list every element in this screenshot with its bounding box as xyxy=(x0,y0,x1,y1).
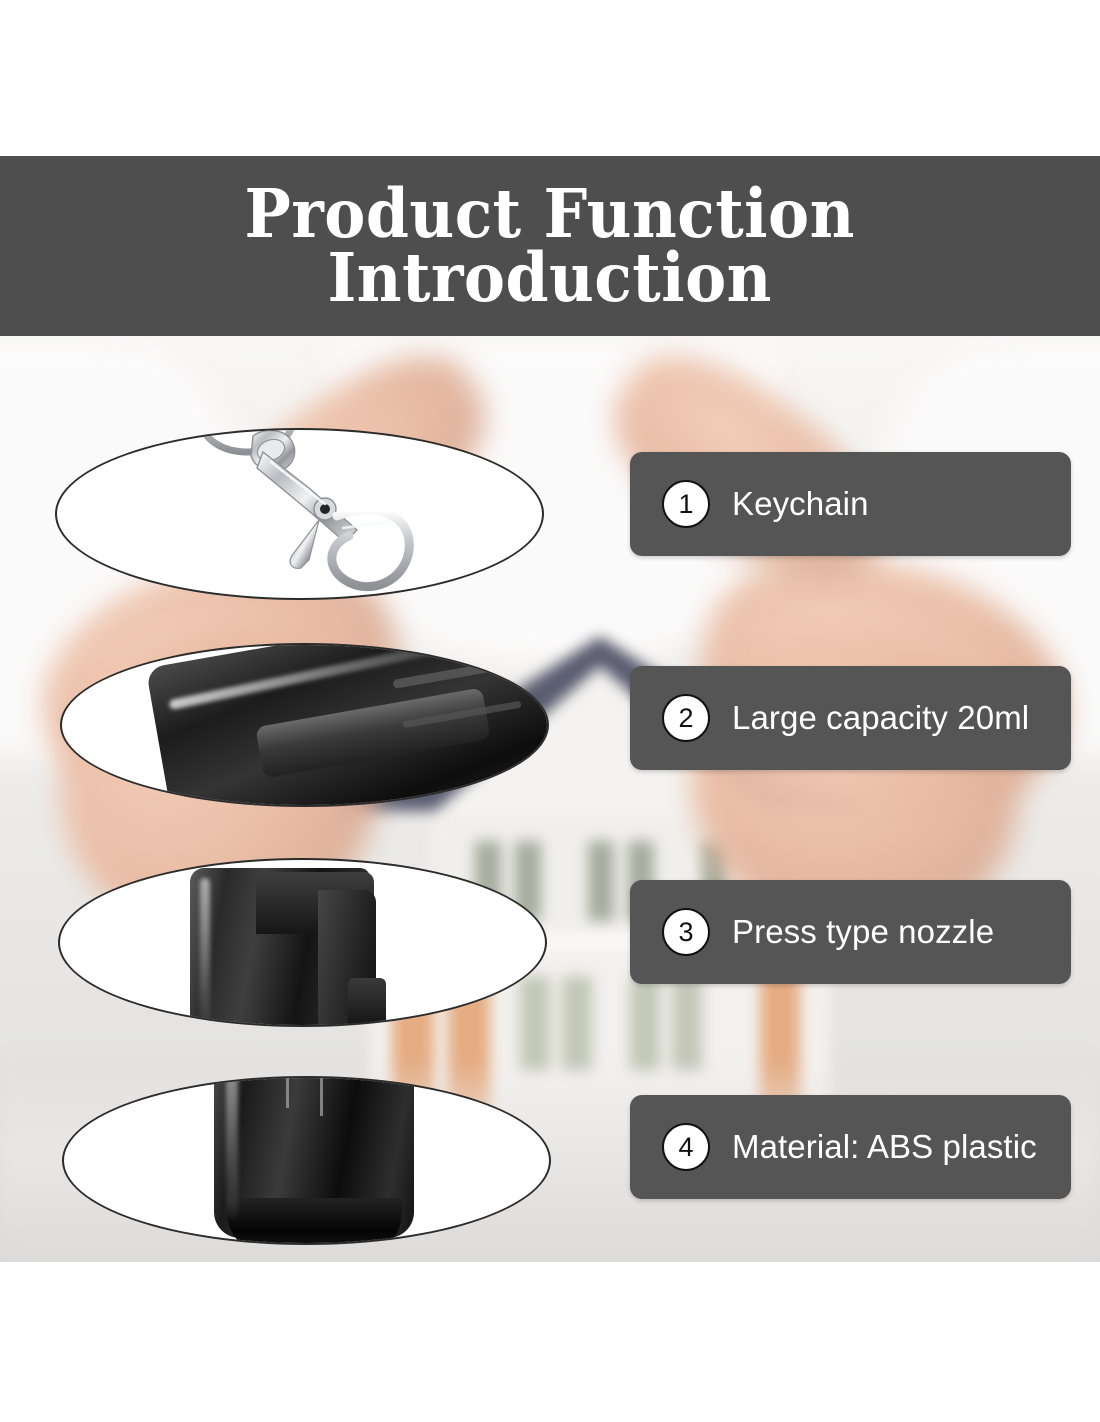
feature-number-badge-4: 4 xyxy=(662,1123,710,1171)
bottle-base-highlight xyxy=(226,1076,238,1218)
feature-bar-2[interactable]: 2 Large capacity 20ml xyxy=(630,666,1071,770)
house-window xyxy=(562,976,592,1071)
bottle-base-seam xyxy=(286,1076,289,1108)
keychain-clasp-icon xyxy=(57,430,542,598)
bottom-white-margin xyxy=(0,1262,1100,1422)
feature-number-badge-1: 1 xyxy=(662,480,710,528)
callout-ellipse-1 xyxy=(55,428,544,600)
house-window xyxy=(588,841,614,921)
callout-ellipse-3 xyxy=(58,858,547,1027)
page-title-line-2: Introduction xyxy=(328,238,773,317)
nozzle-cap-photo xyxy=(60,860,545,1025)
feature-label-4: Material: ABS plastic xyxy=(732,1128,1037,1166)
nozzle-highlight xyxy=(200,878,210,1027)
feature-bar-3[interactable]: 3 Press type nozzle xyxy=(630,880,1071,984)
callout-ellipse-4 xyxy=(62,1076,551,1245)
feature-number-badge-2: 2 xyxy=(662,694,710,742)
bottle-base-seam xyxy=(320,1076,323,1116)
bottle-base-photo xyxy=(64,1078,549,1243)
house-window xyxy=(672,976,702,1071)
feature-label-3: Press type nozzle xyxy=(732,913,994,951)
bottle-body-photo xyxy=(62,645,547,805)
feature-bar-4[interactable]: 4 Material: ABS plastic xyxy=(630,1095,1071,1199)
bottle-base-bottom xyxy=(227,1198,402,1245)
callout-ellipse-2 xyxy=(60,643,549,807)
feature-label-1: Keychain xyxy=(732,485,869,523)
top-white-margin xyxy=(0,0,1100,156)
feature-number-badge-3: 3 xyxy=(662,908,710,956)
title-band: Product Function Introduction xyxy=(0,156,1100,336)
nozzle-tip xyxy=(348,978,386,1027)
keychain-clasp-photo xyxy=(57,430,542,598)
feature-label-2: Large capacity 20ml xyxy=(732,699,1029,737)
page-title: Product Function Introduction xyxy=(226,182,873,309)
house-window xyxy=(630,976,660,1071)
feature-bar-1[interactable]: 1 Keychain xyxy=(630,452,1071,556)
product-infographic-page: Product Function Introduction xyxy=(0,0,1100,1422)
lifestyle-photo-area: 1 Keychain 2 Large capacity 20ml 3 Press… xyxy=(0,336,1100,1262)
